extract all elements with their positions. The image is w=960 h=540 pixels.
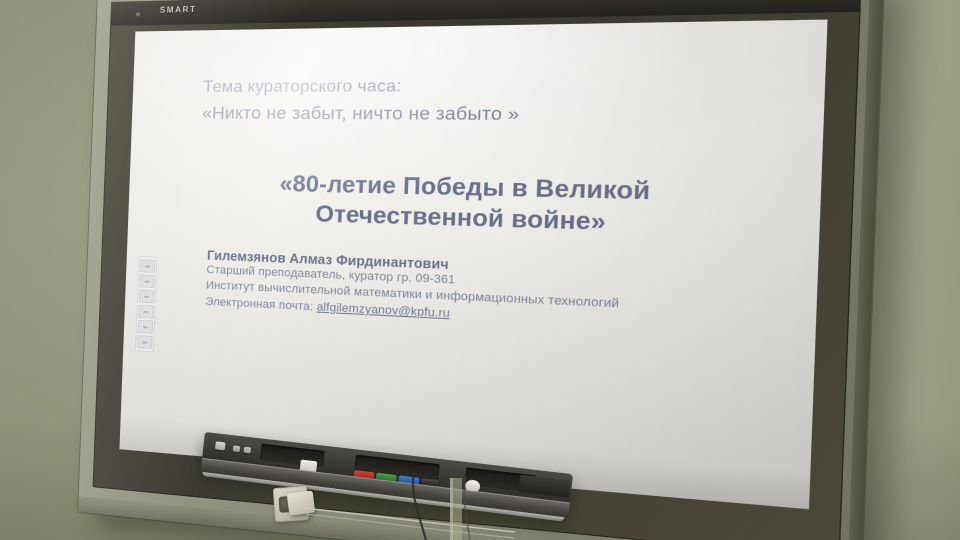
toolbar-glyph-icon [142, 341, 147, 343]
smart-board[interactable]: SMART Тема кураторского часа: «Никто не … [78, 0, 884, 540]
toolbar-glyph-icon [143, 326, 148, 328]
wall-conduit [440, 478, 480, 540]
toolbar-button-3[interactable] [139, 289, 154, 303]
slide-author-block: Гилемзянов Алмаз Фирдинантович Старший п… [195, 248, 746, 339]
slide-floating-toolbar[interactable] [135, 256, 157, 352]
email-label: Электронная почта: [205, 296, 313, 314]
toolbar-button-4[interactable] [138, 305, 153, 319]
status-led-icon [136, 12, 140, 16]
board-outer-frame: SMART Тема кураторского часа: «Никто не … [78, 0, 884, 540]
smart-brand-logo: SMART [160, 5, 197, 15]
slide-main-title: «80-летие Победы в Великой Отечественной… [198, 167, 750, 242]
toolbar-glyph-icon [145, 265, 150, 267]
toolbar-button-1[interactable] [140, 259, 155, 273]
toolbar-glyph-icon [143, 310, 148, 312]
slide-topic-quote: «Никто не забыт, ничто не забыто » [202, 100, 753, 130]
toolbar-glyph-icon [144, 295, 149, 297]
pen-tray-right-panel [518, 475, 571, 498]
keyboard-button[interactable] [243, 447, 251, 454]
scene: SMART Тема кураторского часа: «Никто не … [0, 0, 960, 540]
slide-topic-label: Тема кураторского часа: [203, 72, 754, 100]
toolbar-button-6[interactable] [137, 335, 152, 349]
power-button[interactable] [215, 441, 226, 450]
help-button[interactable] [233, 445, 241, 452]
toolbar-glyph-icon [145, 280, 150, 282]
toolbar-button-2[interactable] [139, 274, 154, 288]
toolbar-button-5[interactable] [138, 320, 153, 334]
wall-conduit-path [440, 478, 480, 540]
